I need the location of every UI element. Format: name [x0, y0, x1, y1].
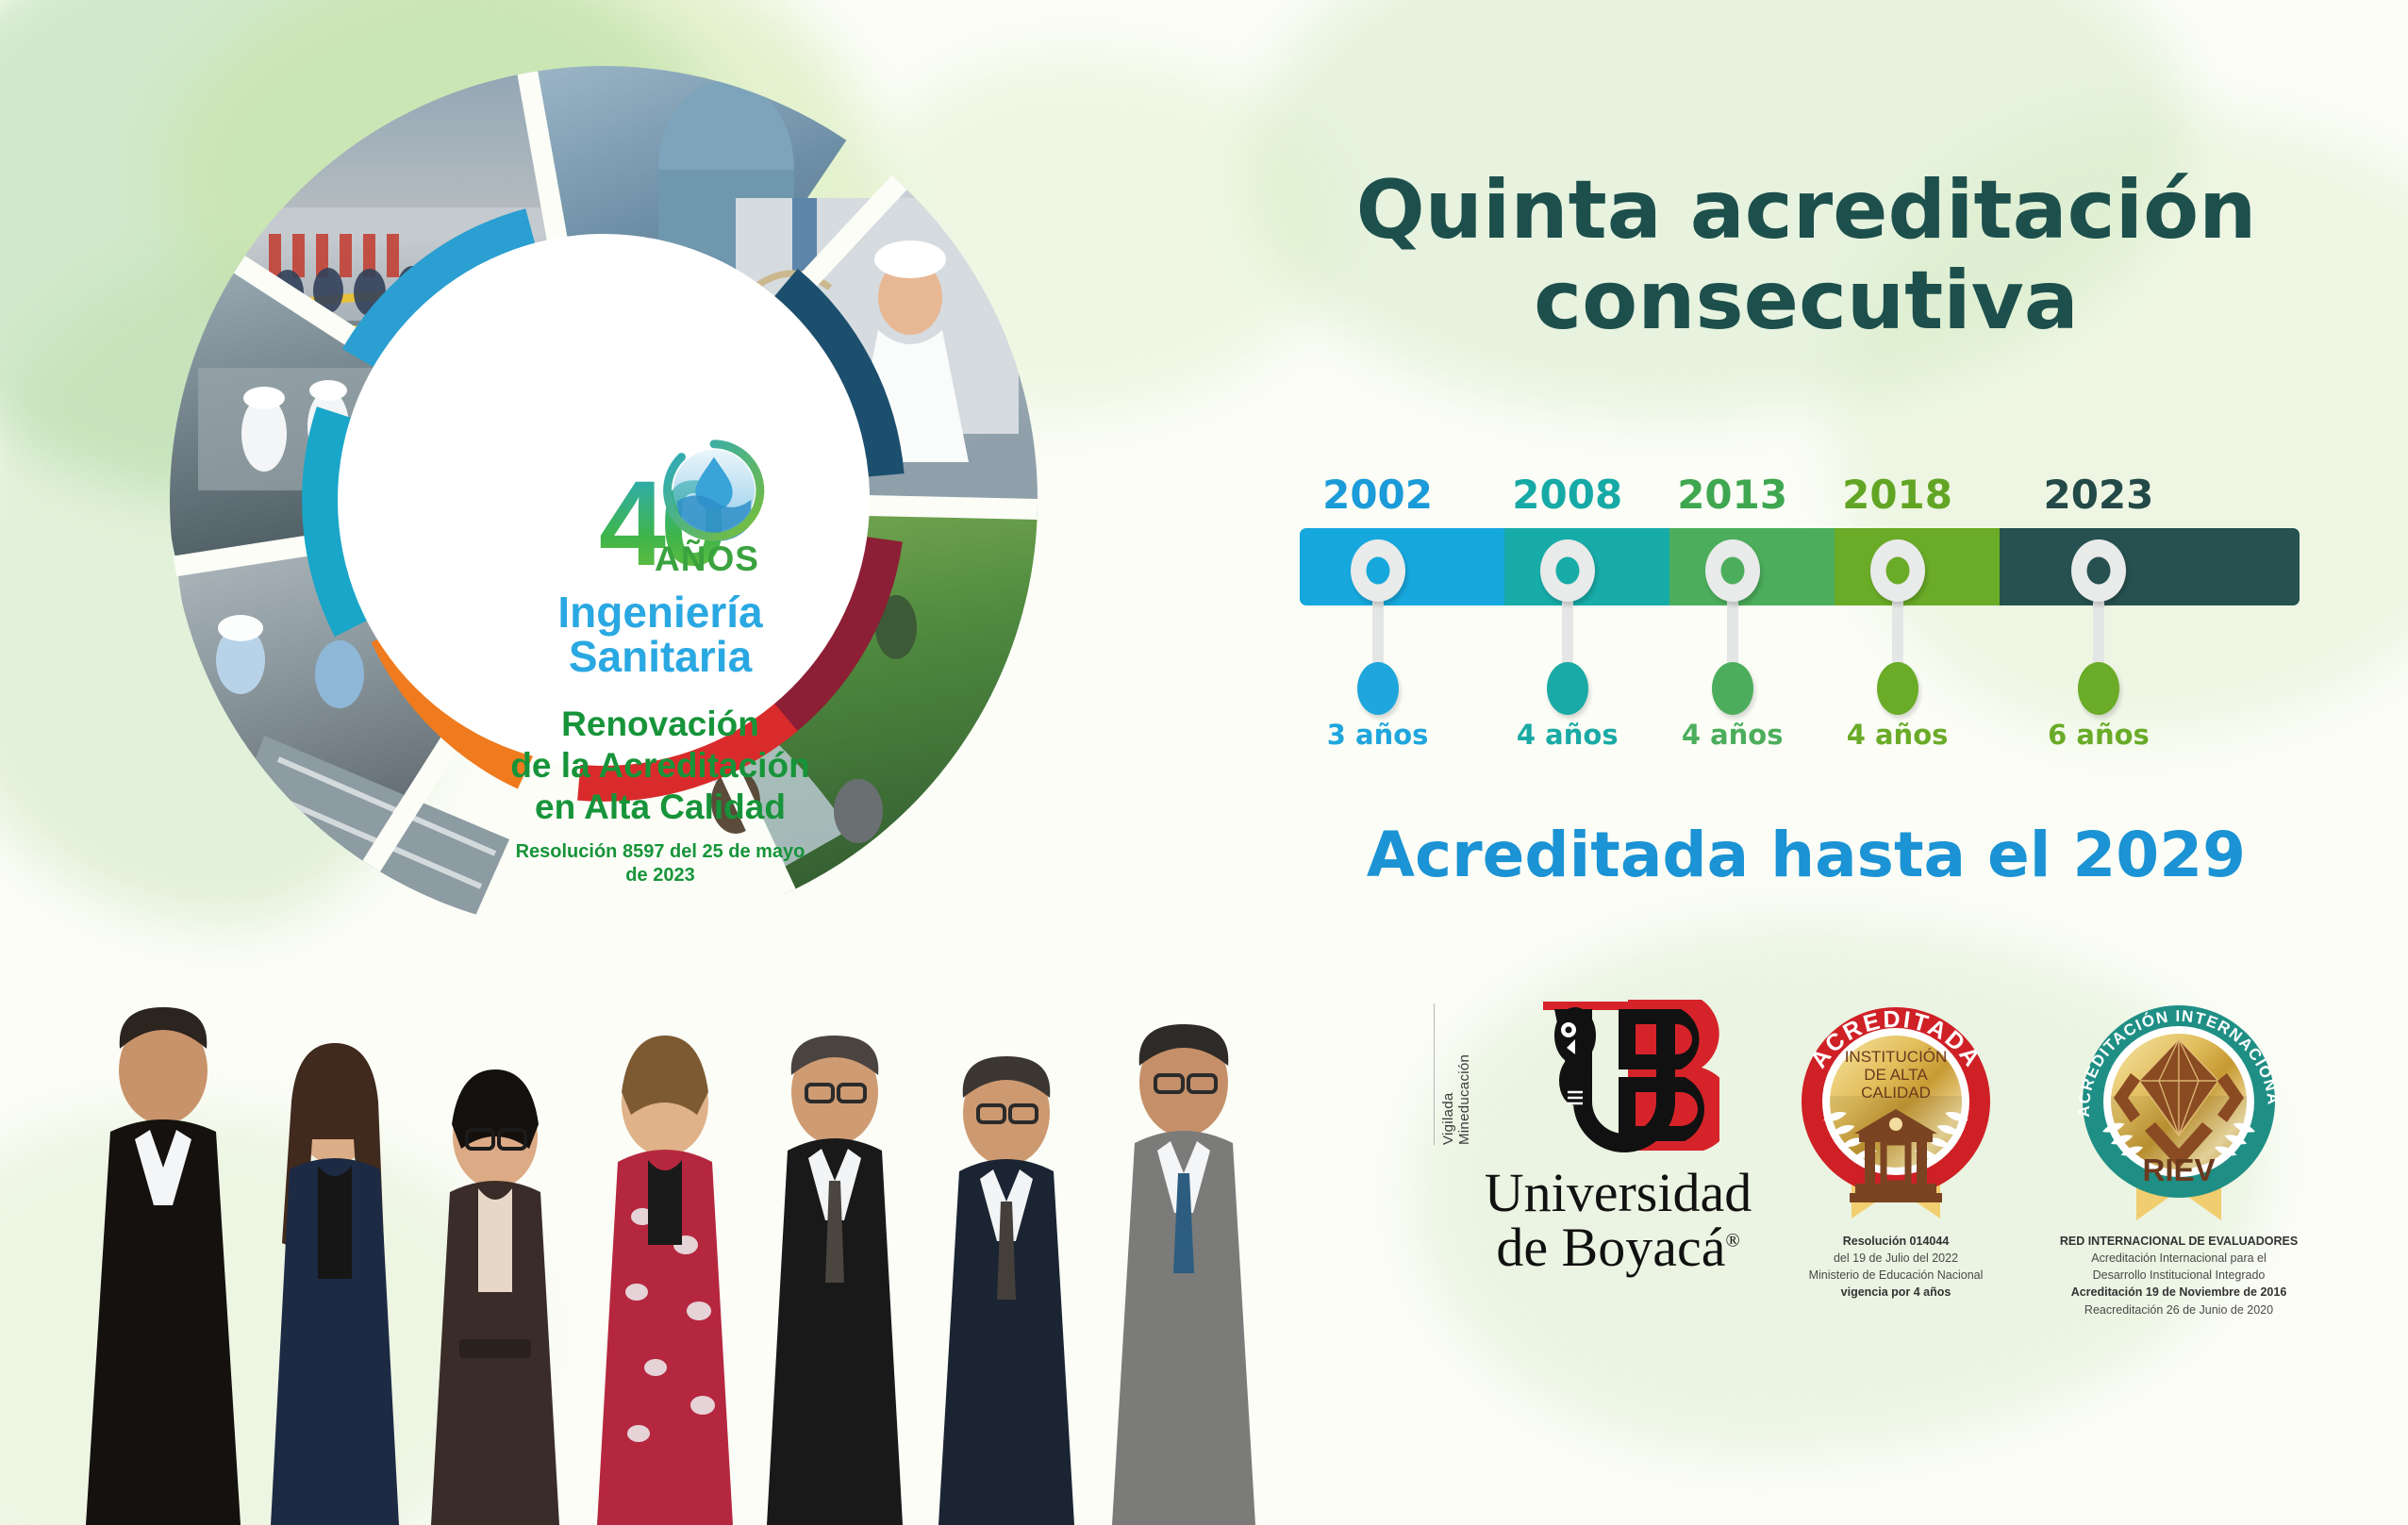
university-name-line2: de Boyacá [1496, 1217, 1725, 1278]
timeline-year: 2013 [1677, 472, 1787, 518]
timeline-duration-dot [1712, 662, 1753, 715]
water-drop-ring-icon [658, 435, 770, 546]
caption-line: RED INTERNACIONAL DE EVALUADORES [2037, 1233, 2320, 1250]
timeline-duration-dot [1357, 662, 1399, 715]
timeline-duration-dot [1877, 662, 1918, 715]
timeline-year: 2023 [2043, 472, 2153, 518]
resolution-line1: Resolución 8597 del 25 de mayo [429, 840, 891, 864]
renewal-line3: en Alta Calidad [429, 787, 891, 828]
timeline-ring-marker [1540, 539, 1595, 602]
svg-text:CALIDAD: CALIDAD [1861, 1084, 1931, 1102]
svg-text:DE ALTA: DE ALTA [1864, 1066, 1928, 1084]
timeline-year: 2008 [1512, 472, 1622, 518]
timeline-stem [1892, 596, 1903, 670]
caption-line: vigencia por 4 años [1754, 1284, 2037, 1301]
renewal-line2: de la Acreditación [429, 745, 891, 787]
ub-monogram-icon [1517, 990, 1719, 1155]
timeline-stem [1562, 596, 1573, 670]
international-seal-caption: RED INTERNACIONAL DE EVALUADORES Acredit… [2037, 1233, 2320, 1318]
anniversary-badge: 40 AÑOS Ingeniería Sanitaria Renovación … [429, 429, 891, 887]
timeline-year-labels: 20022008201320182023 [1300, 472, 2300, 528]
svg-text:INSTITUCIÓN: INSTITUCIÓN [1845, 1048, 1948, 1066]
caption-line: Acreditación 19 de Noviembre de 2016 [2037, 1284, 2320, 1301]
caption-line: Desarrollo Institucional Integrado [2037, 1267, 2320, 1284]
caption-line: del 19 de Julio del 2022 [1754, 1250, 2037, 1267]
registered-mark: ® [1725, 1231, 1739, 1251]
renewal-line1: Renovación [429, 704, 891, 745]
person [597, 1036, 733, 1525]
person [431, 1069, 559, 1525]
caption-line: Reacreditación 26 de Junio de 2020 [2037, 1301, 2320, 1318]
timeline-duration-label: 4 años [1682, 719, 1784, 751]
timeline-ring-core [1885, 557, 1909, 585]
university-logo: Vigilada Mineducación Universidad [1434, 990, 1754, 1275]
timeline-ring-core [1555, 557, 1579, 585]
headline-line2: consecutiva [1316, 256, 2297, 346]
person [1112, 1024, 1255, 1525]
person [767, 1036, 903, 1525]
caption-line: Ministerio de Educación Nacional [1754, 1267, 2037, 1284]
page-title: Quinta acreditación consecutiva [1316, 165, 2297, 347]
timeline-duration-labels: 3 años4 años4 años4 años6 años [1300, 719, 2300, 768]
timeline-duration-label: 4 años [1517, 719, 1619, 751]
national-accreditation-seal-icon: ACREDITADA INSTITUCIÓN DE ALTA CALIDAD [1778, 990, 2014, 1224]
timeline-stem [1727, 596, 1738, 670]
timeline-duration-label: 3 años [1327, 719, 1429, 751]
accreditation-logos-row: Vigilada Mineducación Universidad [1434, 990, 2386, 1330]
timeline-ring-core [1720, 557, 1744, 585]
subheading: Acreditada hasta el 2029 [1316, 819, 2297, 891]
person [86, 1007, 241, 1525]
timeline-year: 2018 [1842, 472, 1952, 518]
faculty-group-photo [52, 981, 1401, 1525]
timeline-duration-dot [2078, 662, 2119, 715]
timeline-duration-dot [1547, 662, 1588, 715]
resolution-line2: de 2023 [429, 864, 891, 887]
university-name-line1: Universidad [1482, 1166, 1754, 1220]
timeline-ring-marker [2071, 539, 2126, 602]
seal-acreditacion-internacional: ACREDITACIÓN INTERNACIONAL RIEV RED INTE… [2037, 990, 2320, 1318]
person [938, 1056, 1074, 1525]
seal-acreditada-alta-calidad: ACREDITADA INSTITUCIÓN DE ALTA CALIDAD R… [1754, 990, 2037, 1301]
caption-line: Acreditación Internacional para el [2037, 1250, 2320, 1267]
program-name-line1: Ingeniería [429, 590, 891, 634]
timeline-duration-label: 6 años [2048, 719, 2150, 751]
program-name-line2: Sanitaria [429, 634, 891, 679]
caption-line: Resolución 014044 [1754, 1233, 2037, 1250]
riev-label: RIEV [2142, 1152, 2215, 1187]
national-seal-caption: Resolución 014044 del 19 de Julio del 20… [1754, 1233, 2037, 1301]
vigilada-mineducacion-label: Vigilada Mineducación [1434, 1003, 1472, 1145]
timeline-stem [2093, 596, 2104, 670]
person [271, 1043, 399, 1525]
international-accreditation-seal-icon: ACREDITACIÓN INTERNACIONAL RIEV [2061, 990, 2297, 1224]
timeline-ring-marker [1870, 539, 1925, 602]
timeline-bar [1300, 528, 2300, 605]
timeline-ring-core [1366, 557, 1389, 585]
accreditation-timeline: 20022008201320182023 3 años4 años4 años4… [1300, 472, 2300, 768]
logo-40-years: 40 AÑOS [429, 429, 891, 585]
timeline-year: 2002 [1322, 472, 1433, 518]
timeline-ring-marker [1351, 539, 1405, 602]
timeline-stem [1372, 596, 1384, 670]
timeline-segment [2000, 528, 2300, 605]
timeline-duration-label: 4 años [1847, 719, 1949, 751]
headline-line1: Quinta acreditación [1316, 165, 2297, 256]
timeline-ring-core [2086, 557, 2110, 585]
timeline-ring-marker [1705, 539, 1760, 602]
